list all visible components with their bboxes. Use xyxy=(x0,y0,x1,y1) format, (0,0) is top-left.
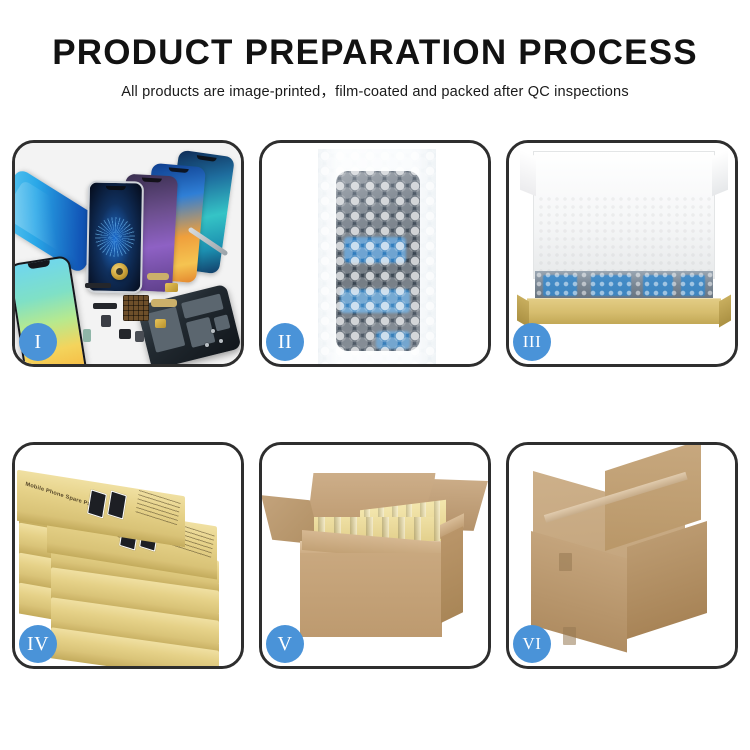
part-flex-cable-icon xyxy=(147,273,169,280)
step-badge-6: VI xyxy=(513,625,551,663)
bubble-texture-2-icon xyxy=(318,149,436,364)
process-step-4[interactable]: Mobile Phone Spare Parts Mobile Phone Sp… xyxy=(12,442,244,669)
page-title: PRODUCT PREPARATION PROCESS xyxy=(0,32,750,74)
part-module-icon xyxy=(101,315,111,327)
part-flex-cable-2-icon xyxy=(151,299,177,307)
process-step-5[interactable]: V xyxy=(259,442,491,669)
step-badge-2: II xyxy=(266,323,304,361)
part-sim-tray-icon xyxy=(83,329,91,342)
process-step-6[interactable]: VI xyxy=(506,442,738,669)
bubble-bag-icon xyxy=(318,149,436,364)
screw-icon xyxy=(219,339,223,343)
wrapped-items-row-icon xyxy=(535,271,713,301)
phone-chassis-icon xyxy=(136,284,241,364)
step-badge-3: III xyxy=(513,323,551,361)
chip-array-icon xyxy=(123,295,149,321)
part-gold-clip-icon xyxy=(155,319,166,328)
carton-tab-bottom-icon xyxy=(563,627,576,645)
carton-tab-top-icon xyxy=(559,553,572,571)
step-badge-1: I xyxy=(19,323,57,361)
step-badge-4: IV xyxy=(19,625,57,663)
screw-icon xyxy=(211,329,215,333)
process-step-2[interactable]: II xyxy=(259,140,491,367)
speaker-coil-icon xyxy=(111,263,128,280)
process-steps-grid: I II xyxy=(12,140,738,680)
part-gold-connector-icon xyxy=(165,283,178,292)
page-header: PRODUCT PREPARATION PROCESS All products… xyxy=(0,32,750,101)
part-strip-icon xyxy=(93,303,117,309)
part-button-icon xyxy=(135,331,144,342)
part-bracket-icon xyxy=(85,283,111,288)
foam-padding-icon xyxy=(537,195,711,273)
part-camera-icon xyxy=(119,329,131,339)
page-subtitle: All products are image-printed，film-coat… xyxy=(0,83,750,101)
kraft-tray-icon xyxy=(527,298,721,324)
carton-side-face-icon xyxy=(441,526,463,623)
screw-icon xyxy=(205,343,209,347)
process-step-3[interactable]: III xyxy=(506,140,738,367)
step-badge-5: V xyxy=(266,625,304,663)
product-preparation-infographic: PRODUCT PREPARATION PROCESS All products… xyxy=(0,0,750,750)
process-step-1[interactable]: I xyxy=(12,140,244,367)
carton-front-face-icon xyxy=(300,553,442,637)
